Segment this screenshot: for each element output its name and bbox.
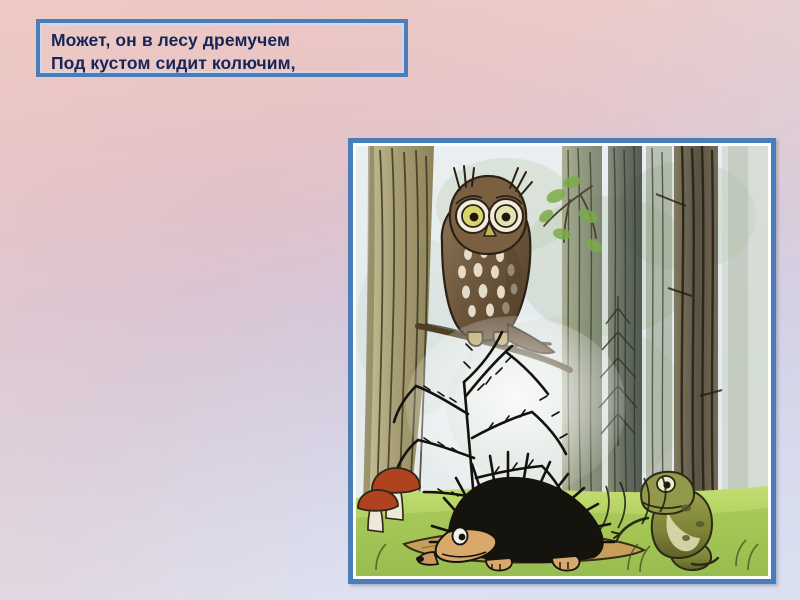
caption-inner-border: Может, он в лесу дремучем Под кустом сид…: [40, 23, 404, 73]
caption-line-1: Может, он в лесу дремучем: [51, 29, 402, 52]
illustration-canvas: [356, 146, 768, 576]
caption-text-box[interactable]: Может, он в лесу дремучем Под кустом сид…: [36, 19, 408, 77]
caption-line-2: Под кустом сидит колючим,: [51, 52, 402, 75]
slide-canvas: Может, он в лесу дремучем Под кустом сид…: [0, 0, 800, 600]
illustration-frame[interactable]: [348, 138, 776, 584]
